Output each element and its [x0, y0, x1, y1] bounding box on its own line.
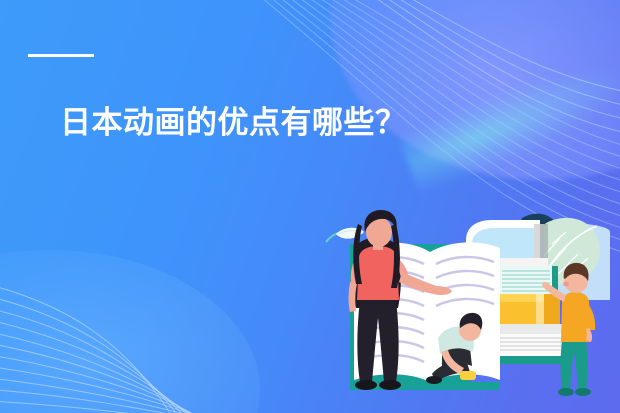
banner: 日本动画的优点有哪些？: [0, 0, 620, 413]
illustration-reading-scene: [0, 0, 620, 413]
